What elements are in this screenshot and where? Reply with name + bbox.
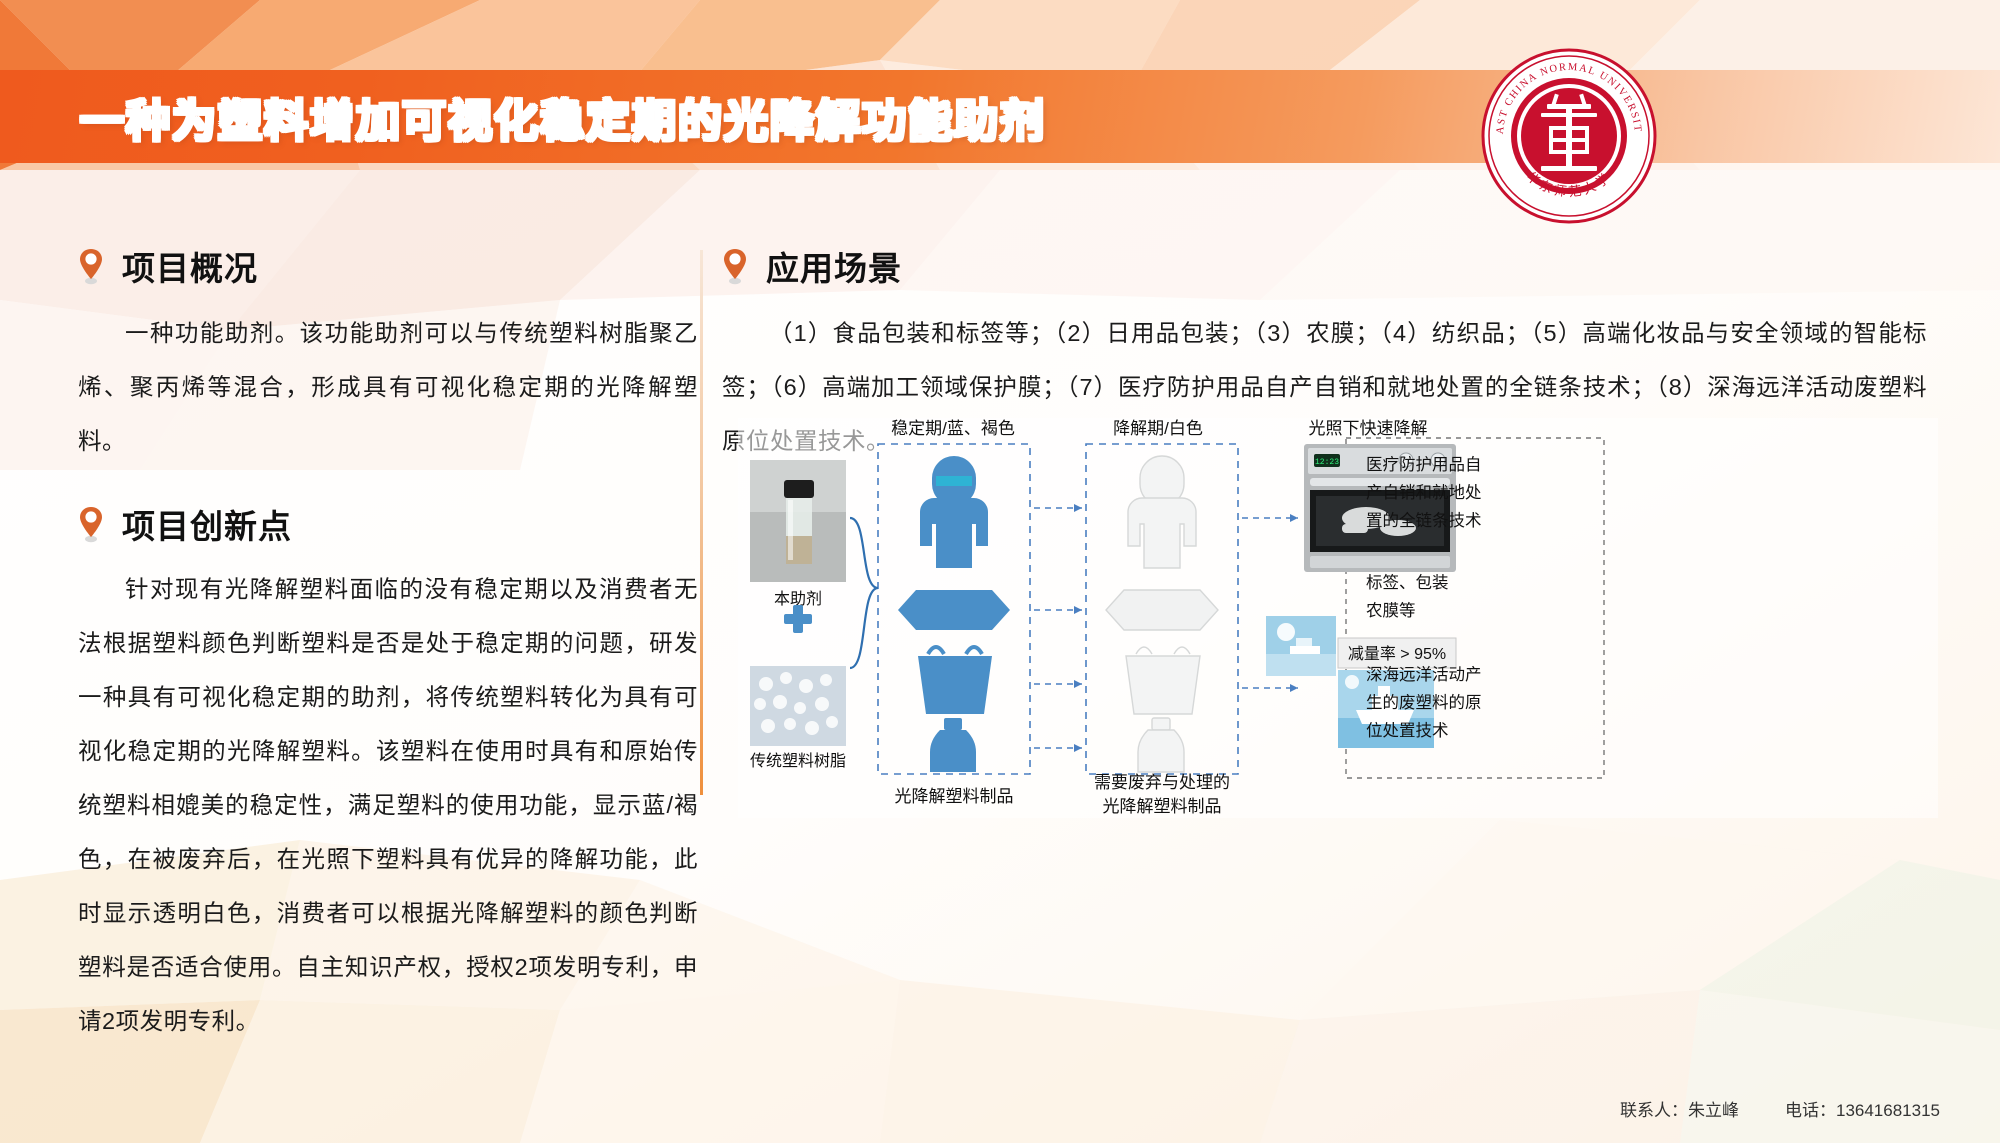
reduction-badge-text: 减量率 > 95% — [1348, 645, 1446, 663]
bottom-label-stable: 光降解塑料制品 — [895, 787, 1014, 806]
plastic-bag-icon-white — [1126, 647, 1200, 714]
outcome-1-line-3: 置的全链条技术 — [1366, 511, 1482, 530]
title-band: 一种为塑料增加可视化稳定期的光降解功能助剂 — [0, 70, 2000, 163]
contact-phone: 电话：13641681315 — [1785, 1096, 1940, 1121]
svg-text:12:23: 12:23 — [1315, 458, 1339, 467]
innovation-body: 针对现有光降解塑料面临的没有稳定期以及消费者无法根据塑料颜色判断塑料是否是处于稳… — [78, 562, 698, 1048]
film-sheet-icon — [898, 590, 1010, 630]
section-title-overview: 项目概况 — [122, 242, 258, 290]
contact-person: 联系人：朱立峰 — [1620, 1096, 1739, 1121]
outcome-2-line-1: 标签、包装 — [1366, 573, 1449, 592]
diagram-header-stable: 稳定期/蓝、褐色 — [891, 419, 1015, 438]
diagram-header-light: 光照下快速降解 — [1309, 419, 1428, 438]
process-diagram: 稳定期/蓝、褐色 降解期/白色 光照下快速降解 本助剂 — [738, 418, 1938, 818]
section-header-overview: 项目概况 — [78, 242, 698, 290]
outcome-3-line-2: 生的废塑料的原 — [1366, 693, 1482, 712]
outcome-3-line-3: 位处置技术 — [1366, 721, 1449, 740]
university-logo: EAST CHINA NORMAL UNIVERSITY 华东师范大学 — [1479, 46, 1659, 226]
map-pin-icon — [78, 505, 104, 543]
bottom-label-degraded-2: 光降解塑料制品 — [1103, 797, 1222, 816]
map-pin-icon — [78, 247, 104, 285]
resin-photo — [750, 666, 846, 746]
outcome-1-line-1: 医疗防护用品自 — [1366, 455, 1482, 474]
outcome-2-line-2: 农膜等 — [1366, 601, 1416, 620]
vial-photo — [750, 460, 846, 582]
column-divider — [700, 250, 703, 795]
bottom-label-degraded-1: 需要废弃与处理的 — [1094, 773, 1230, 792]
left-column: 项目概况 一种功能助剂。该功能助剂可以与传统塑料树脂聚乙烯、聚丙烯等混合，形成具… — [78, 242, 698, 1048]
poster-root: 一种为塑料增加可视化稳定期的光降解功能助剂 EAST CHINA — [0, 0, 2000, 1143]
section-title-application: 应用场景 — [766, 242, 902, 290]
diagram-header-degraded: 降解期/白色 — [1113, 419, 1203, 438]
outcome-3-line-1: 深海远洋活动产 — [1366, 665, 1482, 684]
page-title: 一种为塑料增加可视化稳定期的光降解功能助剂 — [80, 85, 1046, 149]
plastic-bag-icon — [918, 647, 992, 714]
outcome-1-line-2: 产自销和就地处 — [1366, 483, 1482, 502]
section-header-application: 应用场景 — [722, 242, 1937, 290]
map-pin-icon — [722, 247, 748, 285]
section-title-innovation: 项目创新点 — [122, 500, 292, 548]
section-header-innovation: 项目创新点 — [78, 500, 698, 548]
film-sheet-icon-white — [1106, 590, 1218, 630]
overview-body: 一种功能助剂。该功能助剂可以与传统塑料树脂聚乙烯、聚丙烯等混合，形成具有可视化稳… — [78, 306, 698, 468]
footer-contact: 联系人：朱立峰 电话：13641681315 — [1620, 1096, 1940, 1121]
input-label-resin: 传统塑料树脂 — [750, 752, 846, 770]
